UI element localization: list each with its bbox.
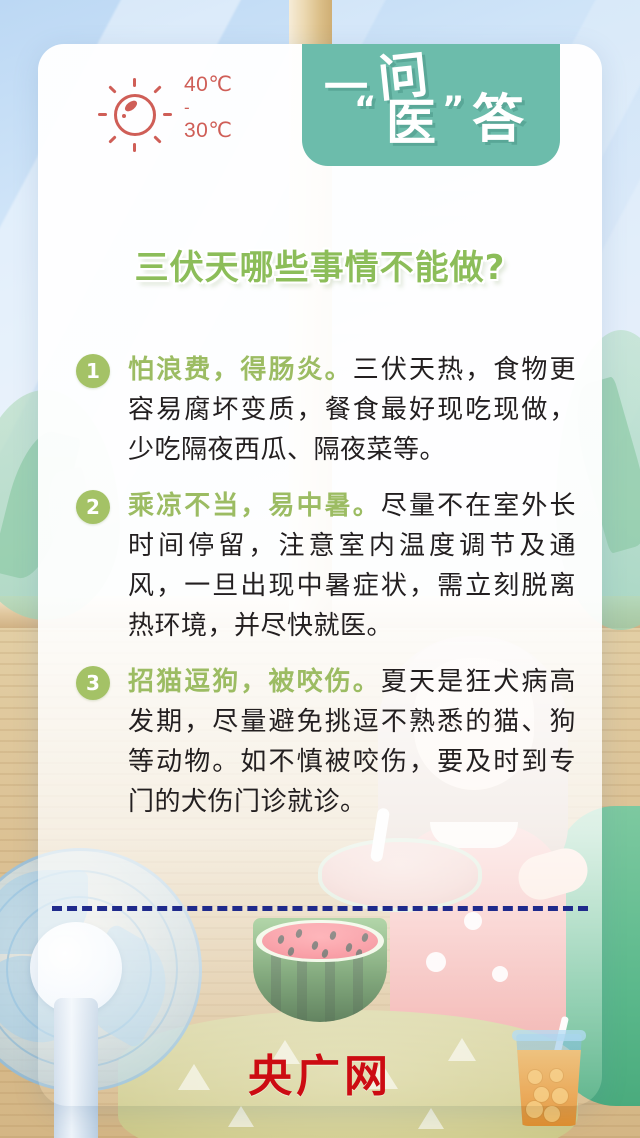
- list-item-number: 3: [76, 666, 110, 700]
- badge-char-da: 答: [472, 94, 524, 146]
- list-item-lead: 乘凉不当，易中暑。: [128, 491, 381, 521]
- badge-quote-open: “: [354, 92, 376, 126]
- page-title: 三伏天哪些事情不能做?: [38, 240, 602, 289]
- temperature-low: 30℃: [184, 118, 294, 144]
- list-item-lead: 招猫逗狗，被咬伤。: [128, 667, 381, 697]
- temperature-separator: -: [184, 98, 294, 118]
- temperature-range: 40℃ - 30℃: [184, 72, 294, 144]
- content-card: 40℃ - 30℃ 一 “ 问 医 ” 答 三伏天哪些事情不能做? 1 怕浪费，…: [38, 44, 602, 1106]
- list-item: 1 怕浪费，得肠炎。三伏天热，食物更容易腐坏变质，餐食最好现吃现做，少吃隔夜西瓜…: [76, 350, 576, 470]
- list-item: 3 招猫逗狗，被咬伤。夏天是狂犬病高发期，尽量避免挑逗不熟悉的猫、狗等动物。如不…: [76, 662, 576, 822]
- weather-widget: 40℃ - 30℃: [98, 68, 298, 164]
- sun-icon: [98, 78, 172, 152]
- temperature-high: 40℃: [184, 72, 294, 98]
- brand-logo: 央广网: [0, 1040, 640, 1104]
- tips-list: 1 怕浪费，得肠炎。三伏天热，食物更容易腐坏变质，餐食最好现吃现做，少吃隔夜西瓜…: [76, 350, 576, 838]
- list-item-text: 怕浪费，得肠炎。三伏天热，食物更容易腐坏变质，餐食最好现吃现做，少吃隔夜西瓜、隔…: [128, 350, 576, 470]
- dashed-divider: [52, 906, 588, 911]
- badge-quote-close: ”: [442, 92, 464, 126]
- list-item-text: 乘凉不当，易中暑。尽量不在室外长时间停留，注意室内温度调节及通风，一旦出现中暑症…: [128, 486, 576, 646]
- list-item-lead: 怕浪费，得肠炎。: [128, 355, 353, 385]
- list-item-number: 2: [76, 490, 110, 524]
- list-item-number: 1: [76, 354, 110, 388]
- badge-char-medicine: 医: [386, 98, 436, 148]
- list-item-text: 招猫逗狗，被咬伤。夏天是狂犬病高发期，尽量避免挑逗不熟悉的猫、狗等动物。如不慎被…: [128, 662, 576, 822]
- program-badge: 一 “ 问 医 ” 答: [302, 44, 560, 166]
- list-item: 2 乘凉不当，易中暑。尽量不在室外长时间停留，注意室内温度调节及通风，一旦出现中…: [76, 486, 576, 646]
- poster-root: 40℃ - 30℃ 一 “ 问 医 ” 答 三伏天哪些事情不能做? 1 怕浪费，…: [0, 0, 640, 1138]
